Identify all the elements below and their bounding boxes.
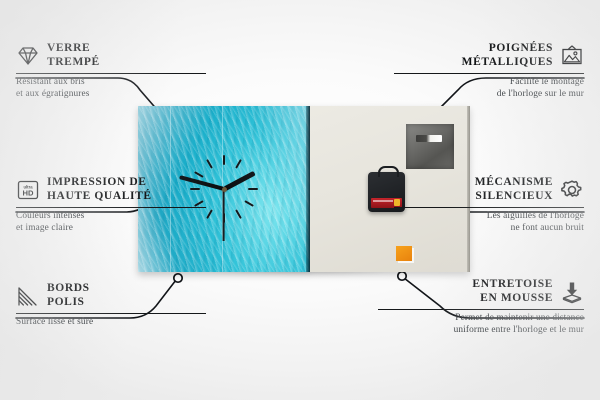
feature-desc: uniforme entre l'horloge et le mur bbox=[378, 325, 584, 336]
clock-center-cap bbox=[222, 187, 227, 192]
feature-title: HAUTE QUALITÉ bbox=[47, 190, 152, 204]
feature-impression: ultra HD IMPRESSION DE HAUTE QUALITÉ Cou… bbox=[16, 176, 206, 234]
feature-desc: Facilite le montage bbox=[394, 77, 584, 88]
foam-spacer bbox=[396, 246, 412, 261]
feature-title: IMPRESSION DE bbox=[47, 176, 152, 190]
feature-title: MÉCANISME bbox=[475, 176, 553, 190]
feature-title: POIGNÉES bbox=[462, 42, 553, 56]
divider bbox=[16, 73, 206, 74]
feature-title: SILENCIEUX bbox=[475, 190, 553, 204]
svg-text:HD: HD bbox=[23, 188, 34, 197]
feature-poignees: POIGNÉES MÉTALLIQUES Facilite le montage… bbox=[394, 42, 584, 100]
feature-entretoise: ENTRETOISE EN MOUSSE Permet de maintenir… bbox=[378, 278, 584, 336]
polished-edge-icon bbox=[16, 284, 40, 308]
divider bbox=[394, 73, 584, 74]
feature-desc: et aux égratignures bbox=[16, 89, 206, 100]
feature-title: TREMPÉ bbox=[47, 56, 100, 70]
feature-desc: Permet de maintenir une distance bbox=[378, 313, 584, 324]
feature-desc: ne font aucun bruit bbox=[394, 223, 584, 234]
feature-verre-trempe: VERRE TREMPÉ Résistant aux bris et aux é… bbox=[16, 42, 206, 100]
feature-desc: Couleurs intenses bbox=[16, 211, 206, 222]
divider bbox=[394, 207, 584, 208]
battery-label bbox=[373, 200, 393, 202]
feature-mecanisme: MÉCANISME SILENCIEUX Les aiguilles de l'… bbox=[394, 176, 584, 234]
feature-desc: Les aiguilles de l'horloge bbox=[394, 211, 584, 222]
divider bbox=[378, 309, 584, 310]
foam-spacer-icon bbox=[560, 280, 584, 304]
framed-picture-hanger-icon bbox=[560, 44, 584, 68]
feature-title: VERRE bbox=[47, 42, 100, 56]
feature-title: MÉTALLIQUES bbox=[462, 56, 553, 70]
metal-hanger-plate bbox=[406, 124, 454, 169]
diamond-icon bbox=[16, 44, 40, 68]
feature-desc: Résistant aux bris bbox=[16, 77, 206, 88]
ultra-hd-icon: ultra HD bbox=[16, 178, 40, 202]
feature-bords-polis: BORDS POLIS Surface lisse et sûre bbox=[16, 282, 206, 329]
clock-second-hand bbox=[223, 189, 225, 241]
feature-title: BORDS bbox=[47, 282, 90, 296]
gear-icon bbox=[560, 178, 584, 202]
feature-title: ENTRETOISE bbox=[472, 278, 553, 292]
feature-desc: Surface lisse et sûre bbox=[16, 317, 206, 328]
divider bbox=[16, 313, 206, 314]
feature-desc: et image claire bbox=[16, 223, 206, 234]
feature-title: EN MOUSSE bbox=[472, 292, 553, 306]
divider bbox=[16, 207, 206, 208]
feature-title: POLIS bbox=[47, 296, 90, 310]
hanger-slot bbox=[416, 135, 442, 142]
infographic-stage: VERRE TREMPÉ Résistant aux bris et aux é… bbox=[0, 0, 600, 400]
feature-desc: de l'horloge sur le mur bbox=[394, 89, 584, 100]
